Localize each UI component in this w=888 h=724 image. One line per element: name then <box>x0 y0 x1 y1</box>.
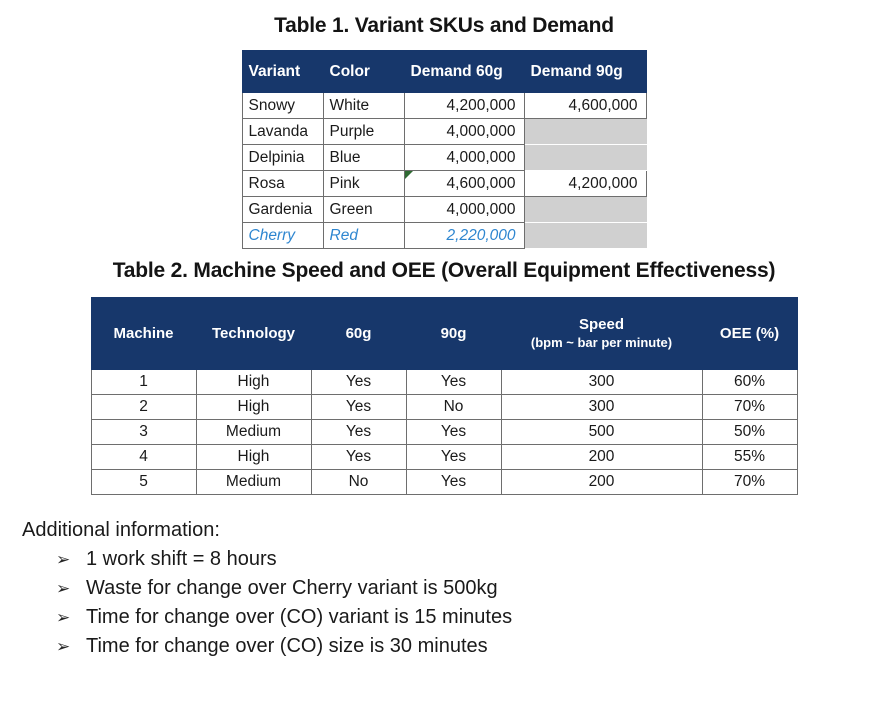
cell-speed: 200 <box>501 445 702 470</box>
cell-machine: 5 <box>91 470 196 495</box>
list-item-label: 1 work shift = 8 hours <box>86 548 277 571</box>
column-header-variant: Variant <box>242 51 323 93</box>
cell-color: Blue <box>323 145 404 171</box>
table-row: 3MediumYesYes50050% <box>91 420 797 445</box>
table-2-container: Machine Technology 60g 90g Speed (bpm ~ … <box>0 283 888 495</box>
machine-speed-oee-table: Machine Technology 60g 90g Speed (bpm ~ … <box>91 297 798 495</box>
cell-technology: High <box>196 395 311 420</box>
table-1-title: Table 1. Variant SKUs and Demand <box>0 0 888 38</box>
cell-color: Green <box>323 197 404 223</box>
cell-variant: Delpinia <box>242 145 323 171</box>
cell-demand-90g: 4,600,000 <box>524 93 646 119</box>
bullet-arrow-icon: ➢ <box>56 550 86 570</box>
bullet-arrow-icon: ➢ <box>56 637 86 657</box>
cell-variant: Cherry <box>242 223 323 249</box>
cell-variant: Lavanda <box>242 119 323 145</box>
cell-demand-60g: 2,220,000 <box>404 223 524 249</box>
cell-machine: 1 <box>91 370 196 395</box>
list-item-label: Waste for change over Cherry variant is … <box>86 577 498 600</box>
cell-color: White <box>323 93 404 119</box>
table-row: DelpiniaBlue4,000,000 <box>242 145 646 171</box>
bullet-arrow-icon: ➢ <box>56 608 86 628</box>
list-item: ➢Time for change over (CO) size is 30 mi… <box>56 635 888 658</box>
additional-information-section: Additional information: ➢1 work shift = … <box>22 519 888 658</box>
additional-info-list: ➢1 work shift = 8 hours➢Waste for change… <box>22 548 888 658</box>
table-row: SnowyWhite4,200,0004,600,000 <box>242 93 646 119</box>
list-item-label: Time for change over (CO) size is 30 min… <box>86 635 488 658</box>
cell-technology: Medium <box>196 420 311 445</box>
cell-color: Red <box>323 223 404 249</box>
cell-technology: Medium <box>196 470 311 495</box>
bullet-arrow-icon: ➢ <box>56 579 86 599</box>
cell-60g: Yes <box>311 445 406 470</box>
column-header-technology: Technology <box>196 298 311 370</box>
column-header-speed-main: Speed <box>508 316 696 333</box>
column-header-speed: Speed (bpm ~ bar per minute) <box>501 298 702 370</box>
cell-90g: Yes <box>406 420 501 445</box>
cell-color: Pink <box>323 171 404 197</box>
cell-90g: Yes <box>406 370 501 395</box>
cell-demand-60g: 4,000,000 <box>404 145 524 171</box>
list-item: ➢1 work shift = 8 hours <box>56 548 888 571</box>
cell-color: Purple <box>323 119 404 145</box>
table-row: RosaPink4,600,0004,200,000 <box>242 171 646 197</box>
cell-demand-60g: 4,200,000 <box>404 93 524 119</box>
cell-technology: High <box>196 370 311 395</box>
cell-90g: Yes <box>406 470 501 495</box>
cell-demand-60g: 4,000,000 <box>404 119 524 145</box>
table-row: 5MediumNoYes20070% <box>91 470 797 495</box>
column-header-oee: OEE (%) <box>702 298 797 370</box>
cell-speed: 200 <box>501 470 702 495</box>
cell-demand-90g <box>524 197 646 223</box>
cell-oee: 55% <box>702 445 797 470</box>
cell-demand-90g <box>524 223 646 249</box>
table-2-title: Table 2. Machine Speed and OEE (Overall … <box>0 249 888 283</box>
cell-60g: No <box>311 470 406 495</box>
cell-variant: Rosa <box>242 171 323 197</box>
column-header-color: Color <box>323 51 404 93</box>
table-2-header-row: Machine Technology 60g 90g Speed (bpm ~ … <box>91 298 797 370</box>
additional-info-heading: Additional information: <box>22 519 888 542</box>
cell-speed: 300 <box>501 395 702 420</box>
cell-machine: 3 <box>91 420 196 445</box>
cell-demand-90g <box>524 119 646 145</box>
cell-demand-90g <box>524 145 646 171</box>
comment-marker-icon <box>405 171 413 179</box>
cell-demand-90g: 4,200,000 <box>524 171 646 197</box>
column-header-speed-unit: (bpm ~ bar per minute) <box>508 336 696 351</box>
cell-oee: 70% <box>702 470 797 495</box>
table-1-container: Variant Color Demand 60g Demand 90g Snow… <box>0 38 888 249</box>
table-row: 2HighYesNo30070% <box>91 395 797 420</box>
cell-90g: No <box>406 395 501 420</box>
list-item-label: Time for change over (CO) variant is 15 … <box>86 606 512 629</box>
table-row: 1HighYesYes30060% <box>91 370 797 395</box>
cell-variant: Gardenia <box>242 197 323 223</box>
variant-demand-table: Variant Color Demand 60g Demand 90g Snow… <box>242 50 647 249</box>
table-1-header-row: Variant Color Demand 60g Demand 90g <box>242 51 646 93</box>
table-row: 4HighYesYes20055% <box>91 445 797 470</box>
cell-oee: 70% <box>702 395 797 420</box>
cell-60g: Yes <box>311 420 406 445</box>
cell-machine: 4 <box>91 445 196 470</box>
column-header-60g: 60g <box>311 298 406 370</box>
cell-90g: Yes <box>406 445 501 470</box>
table-row: LavandaPurple4,000,000 <box>242 119 646 145</box>
cell-machine: 2 <box>91 395 196 420</box>
cell-variant: Snowy <box>242 93 323 119</box>
column-header-demand-60g: Demand 60g <box>404 51 524 93</box>
cell-oee: 60% <box>702 370 797 395</box>
cell-60g: Yes <box>311 370 406 395</box>
column-header-demand-90g: Demand 90g <box>524 51 646 93</box>
cell-speed: 500 <box>501 420 702 445</box>
column-header-90g: 90g <box>406 298 501 370</box>
cell-60g: Yes <box>311 395 406 420</box>
cell-demand-60g: 4,600,000 <box>404 171 524 197</box>
cell-demand-60g: 4,000,000 <box>404 197 524 223</box>
column-header-machine: Machine <box>91 298 196 370</box>
cell-technology: High <box>196 445 311 470</box>
cell-oee: 50% <box>702 420 797 445</box>
table-row: CherryRed2,220,000 <box>242 223 646 249</box>
cell-speed: 300 <box>501 370 702 395</box>
table-row: GardeniaGreen4,000,000 <box>242 197 646 223</box>
list-item: ➢Time for change over (CO) variant is 15… <box>56 606 888 629</box>
list-item: ➢Waste for change over Cherry variant is… <box>56 577 888 600</box>
